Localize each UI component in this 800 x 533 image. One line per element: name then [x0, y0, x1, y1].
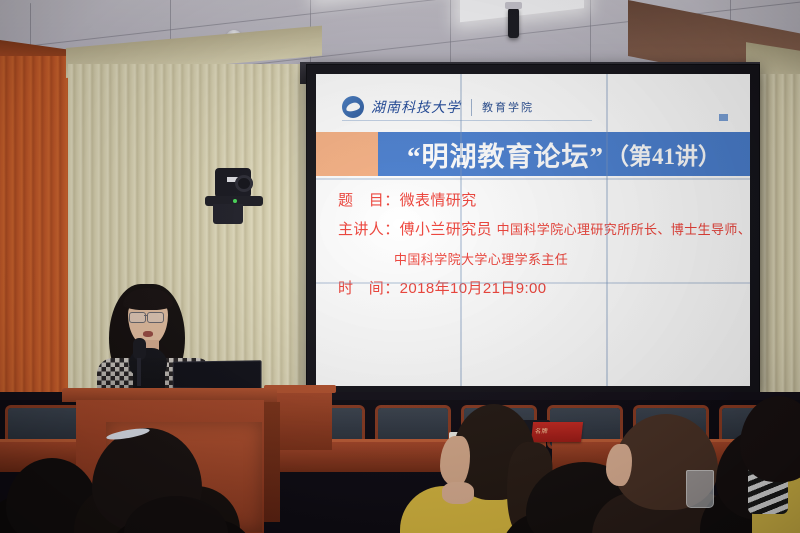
display-seam	[606, 74, 608, 386]
display-seam	[316, 282, 750, 284]
table-placard: 名牌	[531, 422, 583, 442]
department-name: 教育学院	[482, 99, 534, 115]
placard-label: 名牌	[535, 426, 549, 435]
logo-divider	[471, 99, 472, 116]
screen-indicator-dot	[719, 114, 728, 121]
camera-led-indicator	[233, 199, 237, 203]
slide-line-time: 时 间：2018年10月21日9:00	[338, 274, 750, 303]
title-accent-block	[316, 132, 378, 176]
eyeglasses-bridge	[144, 315, 148, 316]
ceiling-sensor-icon	[508, 8, 519, 38]
header-rule	[342, 120, 592, 121]
mouth	[143, 331, 153, 337]
lecture-hall-photo: 湖南科技大学 教育学院 “明湖教育论坛” （第41讲）	[0, 0, 800, 533]
audience-face-profile	[606, 444, 632, 486]
topic-label: 题 目：	[338, 192, 400, 209]
speaker-value: 傅小兰研究员	[400, 221, 492, 238]
eyeglasses-left-lens	[129, 312, 146, 323]
display-seam	[460, 74, 462, 386]
forum-session-number: （第41讲）	[606, 137, 721, 171]
topic-value: 微表情研究	[400, 192, 477, 209]
forum-title: “明湖教育论坛”	[407, 135, 604, 174]
ptz-camera-icon	[205, 168, 263, 224]
university-logo: 湖南科技大学 教育学院	[342, 96, 534, 118]
eyeglasses-right-lens	[147, 312, 164, 323]
video-wall-display[interactable]: 湖南科技大学 教育学院 “明湖教育论坛” （第41讲）	[306, 64, 760, 396]
slide-title-band: “明湖教育论坛” （第41讲）	[316, 132, 750, 176]
slide-line-speaker-cont: 中国科学院大学心理学系主任	[338, 245, 750, 274]
audience-face-profile	[440, 436, 470, 486]
microphone-icon	[133, 338, 146, 386]
slide-line-topic: 题 目：微表情研究	[338, 186, 750, 215]
slide-line-speaker: 主讲人：傅小兰研究员 中国科学院心理研究所所长、博士生导师、	[338, 215, 750, 244]
display-seam	[316, 178, 750, 180]
university-name: 湖南科技大学	[371, 97, 461, 117]
presentation-screen: 湖南科技大学 教育学院 “明湖教育论坛” （第41讲）	[316, 74, 750, 386]
water-glass	[686, 470, 714, 508]
audience-hand	[442, 482, 474, 504]
podium-laptop-icon[interactable]	[173, 360, 262, 389]
speaker-label: 主讲人：	[338, 221, 400, 238]
university-emblem-icon	[342, 96, 364, 118]
speaker-title: 中国科学院心理研究所所长、博士生导师、	[497, 222, 750, 237]
title-blue-band: “明湖教育论坛” （第41讲）	[378, 132, 750, 176]
slide-header: 湖南科技大学 教育学院	[316, 74, 750, 130]
speaker-title-cont: 中国科学院大学心理学系主任	[394, 252, 568, 267]
lecture-announcement-slide: 湖南科技大学 教育学院 “明湖教育论坛” （第41讲）	[316, 74, 750, 386]
ceiling-light	[460, 0, 584, 22]
